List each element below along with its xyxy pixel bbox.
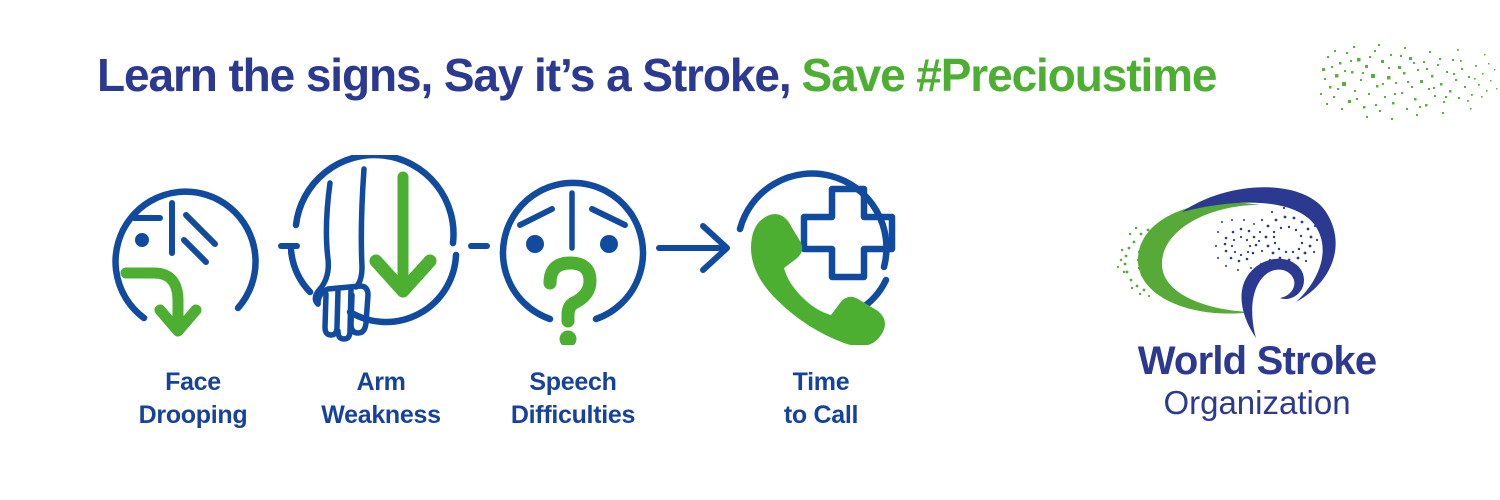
world-stroke-organization-logo: World Stroke Organization [1092, 172, 1422, 432]
logo-text-world-stroke: World Stroke [1092, 340, 1422, 382]
icon-face-drooping [98, 155, 288, 345]
label-speech-line-2: Difficulties [458, 399, 688, 432]
label-time-line-2: to Call [706, 399, 936, 432]
logo-wordmark: World Stroke Organization [1092, 340, 1422, 423]
label-speech-line-1: Speech [458, 366, 688, 399]
time-to-call-icon [726, 155, 916, 345]
brain-logo-icon [1108, 172, 1398, 342]
stroke-awareness-banner: Learn the signs, Say it’s a Stroke, Save… [0, 0, 1500, 500]
label-time-line-1: Time [706, 366, 936, 399]
face-drooping-icon [98, 155, 288, 345]
icon-arm-weakness [288, 155, 478, 345]
logo-text-organization: Organization [1092, 382, 1422, 423]
page-title: Learn the signs, Say it’s a Stroke, Save… [97, 44, 1216, 106]
label-time-to-call: Time to Call [706, 366, 936, 432]
arrow-right-icon [655, 212, 735, 282]
speech-difficulties-icon [478, 155, 668, 345]
icon-speech-difficulties [478, 155, 668, 345]
headline-green-text: Save #Precioustime [802, 52, 1217, 98]
icon-time-to-call [726, 155, 916, 345]
arm-weakness-icon [288, 155, 478, 345]
label-speech-difficulties: Speech Difficulties [458, 366, 688, 432]
headline-particle-dissolve-decoration [1318, 38, 1500, 138]
headline-navy-text: Learn the signs, Say it’s a Stroke, [97, 52, 791, 98]
